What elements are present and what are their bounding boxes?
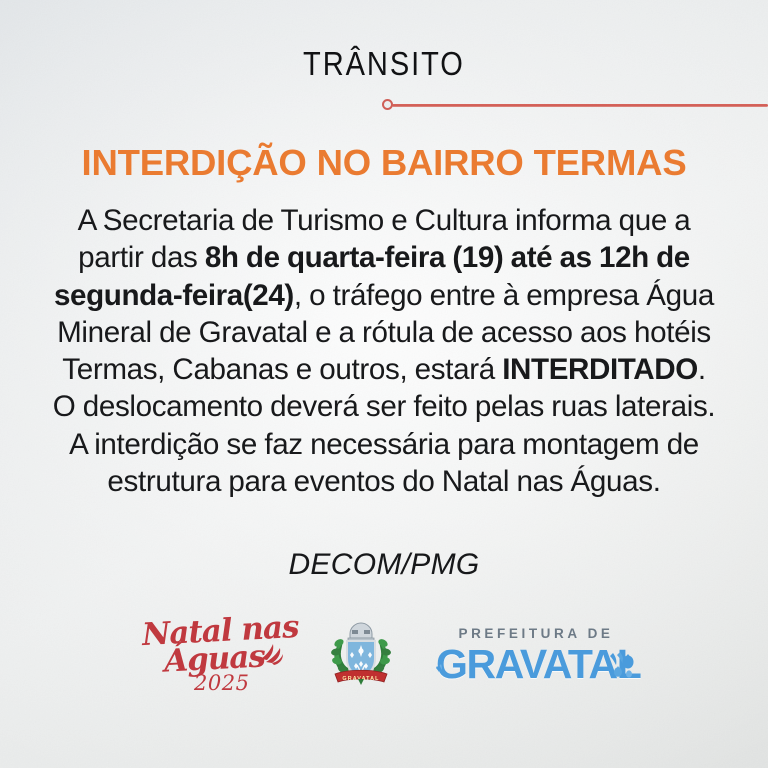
natal-logo-year: 2025 xyxy=(194,671,249,695)
leaf-flourish-icon xyxy=(258,639,284,665)
poster-canvas: TRÂNSITO INTERDIÇÃO NO BAIRRO TERMAS A S… xyxy=(0,0,768,768)
logo-strip: Natal nas Águas 2025 xyxy=(0,606,768,702)
prefeitura-gravatal-logo: PREFEITURA DE GRAVATAL xyxy=(436,623,632,685)
announcement-body: A Secretaria de Turismo e Cultura inform… xyxy=(52,202,716,500)
page-title: INTERDIÇÃO NO BAIRRO TERMAS xyxy=(0,144,768,183)
category-kicker: TRÂNSITO xyxy=(303,47,465,80)
gravatal-wordmark: GRAVATAL xyxy=(436,644,632,685)
water-accent-icon xyxy=(434,663,446,677)
signature-line: DECOM/PMG xyxy=(0,548,768,582)
prefeitura-label: PREFEITURA DE xyxy=(436,627,632,641)
body-emphasis-run: INTERDITADO xyxy=(502,353,698,386)
municipal-crest-icon: GRAVATAL xyxy=(330,621,392,687)
water-droplets-icon xyxy=(608,651,636,679)
natal-nas-aguas-logo: Natal nas Águas 2025 xyxy=(136,611,286,697)
kicker-container: TRÂNSITO xyxy=(0,47,768,80)
decorative-rule xyxy=(392,104,768,107)
